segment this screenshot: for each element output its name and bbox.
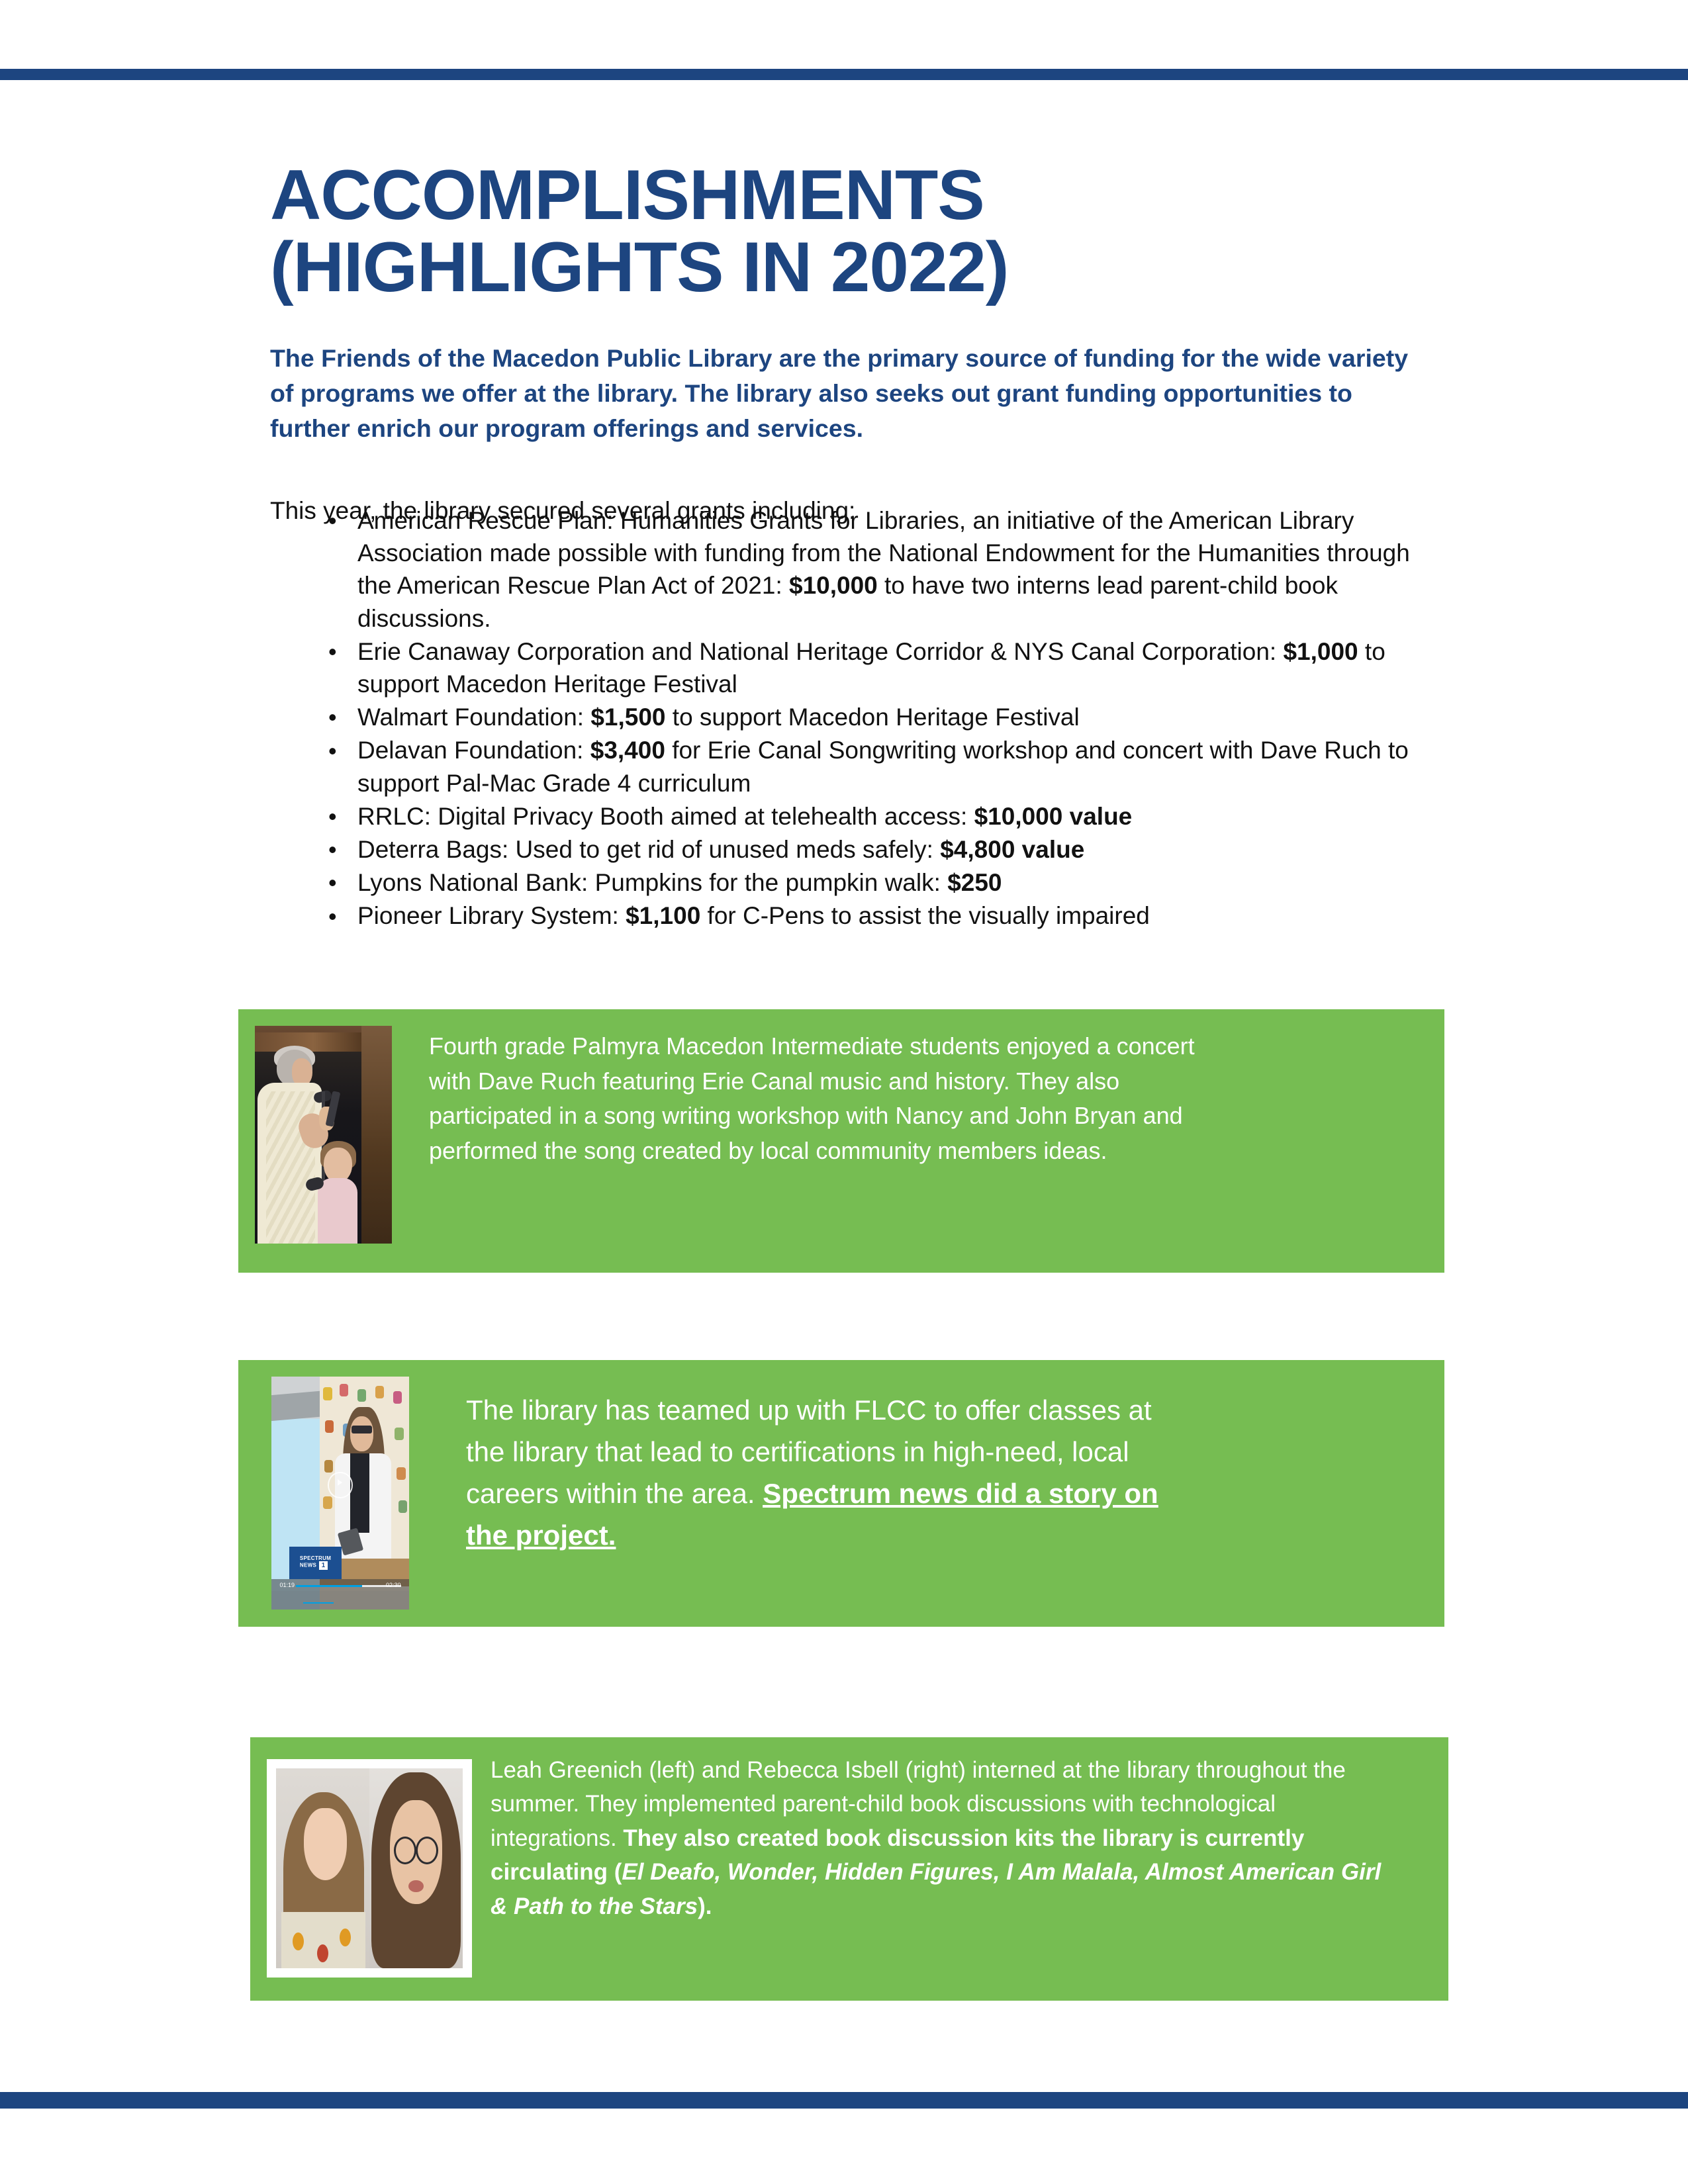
bottom-divider-rule xyxy=(0,2092,1688,2109)
grants-list: •American Rescue Plan: Humanities Grants… xyxy=(311,504,1436,933)
grant-description-suffix: to support Macedon Heritage Festival xyxy=(666,704,1080,731)
grant-list-item: •Erie Canaway Corporation and National H… xyxy=(311,635,1436,700)
grant-list-item: •RRLC: Digital Privacy Booth aimed at te… xyxy=(311,800,1436,833)
spectrum-logo-line-2: NEWS xyxy=(300,1563,316,1569)
grant-description: Delavan Foundation: xyxy=(357,737,590,764)
bullet-icon: • xyxy=(328,801,337,833)
grant-list-item: •American Rescue Plan: Humanities Grants… xyxy=(311,504,1436,635)
spectrum-channel-badge: 1 xyxy=(319,1561,328,1570)
intro-paragraph: The Friends of the Macedon Public Librar… xyxy=(270,341,1422,447)
grant-description: Erie Canaway Corporation and National He… xyxy=(357,638,1283,665)
feature-text-interns-titles: El Deafo, Wonder, Hidden Figures, I Am M… xyxy=(491,1859,1381,1919)
page-title-line-1: ACCOMPLISHMENTS xyxy=(270,159,1435,231)
grant-list-item: •Delavan Foundation: $3,400 for Erie Can… xyxy=(311,734,1436,799)
grant-description-suffix: for C-Pens to assist the visually impair… xyxy=(700,902,1150,929)
grant-list-item: •Walmart Foundation: $1,500 to support M… xyxy=(311,701,1436,733)
spectrum-news-logo: SPECTRUM NEWS1 xyxy=(289,1547,342,1579)
grant-description: Deterra Bags: Used to get rid of unused … xyxy=(357,836,940,863)
feature-text-flcc: The library has teamed up with FLCC to o… xyxy=(466,1389,1181,1556)
feature-text-dave-ruch: Fourth grade Palmyra Macedon Intermediat… xyxy=(429,1029,1197,1168)
photo-frame-interns xyxy=(267,1759,472,1978)
bullet-icon: • xyxy=(328,505,337,537)
grant-amount: $1,500 xyxy=(590,704,665,731)
bullet-icon: • xyxy=(328,834,337,866)
grant-list-item: •Lyons National Bank: Pumpkins for the p… xyxy=(311,866,1436,899)
grant-amount: $10,000 xyxy=(789,572,878,599)
bullet-icon: • xyxy=(328,636,337,668)
bullet-icon: • xyxy=(328,901,337,933)
page-title: ACCOMPLISHMENTS (HIGHLIGHTS IN 2022) xyxy=(270,159,1435,303)
photo-dave-ruch-concert xyxy=(255,1026,392,1244)
grant-amount: $3,400 xyxy=(590,737,665,764)
grant-list-item: •Deterra Bags: Used to get rid of unused… xyxy=(311,833,1436,866)
grant-description: Walmart Foundation: xyxy=(357,704,590,731)
page-title-line-2: (HIGHLIGHTS IN 2022) xyxy=(270,231,1435,303)
top-divider-rule xyxy=(0,69,1688,80)
photo-spectrum-news-video[interactable]: SPECTRUM NEWS1 01:19 02:30 xyxy=(271,1377,409,1610)
spectrum-logo-line-1: SPECTRUM xyxy=(300,1555,331,1561)
video-time-elapsed: 01:19 xyxy=(279,1582,295,1588)
grant-amount: $4,800 value xyxy=(940,836,1084,863)
bullet-icon: • xyxy=(328,735,337,767)
video-progress-bar[interactable] xyxy=(296,1585,362,1587)
grant-list-item: •Pioneer Library System: $1,100 for C-Pe… xyxy=(311,899,1436,932)
newsletter-page: ACCOMPLISHMENTS (HIGHLIGHTS IN 2022) The… xyxy=(0,0,1688,2184)
grant-amount: $250 xyxy=(947,869,1002,896)
feature-block-flcc: SPECTRUM NEWS1 01:19 02:30 The library h… xyxy=(238,1360,1444,1627)
grant-description: Lyons National Bank: Pumpkins for the pu… xyxy=(357,869,947,896)
photo-interns-portraits xyxy=(276,1768,463,1968)
bullet-icon: • xyxy=(328,702,337,733)
grant-amount: $10,000 value xyxy=(974,803,1133,830)
video-play-icon[interactable] xyxy=(328,1472,352,1498)
feature-block-interns: Leah Greenich (left) and Rebecca Isbell … xyxy=(250,1737,1448,2001)
bullet-icon: • xyxy=(328,867,337,899)
feature-block-dave-ruch: Fourth grade Palmyra Macedon Intermediat… xyxy=(238,1009,1444,1273)
grant-amount: $1,100 xyxy=(626,902,700,929)
feature-text-interns-bold-end: ). xyxy=(698,1893,712,1919)
feature-text-interns: Leah Greenich (left) and Rebecca Isbell … xyxy=(491,1753,1397,1923)
video-time-total: 02:30 xyxy=(386,1582,401,1588)
grant-description: Pioneer Library System: xyxy=(357,902,626,929)
grant-description: RRLC: Digital Privacy Booth aimed at tel… xyxy=(357,803,974,830)
video-volume-slider[interactable] xyxy=(303,1602,334,1604)
grant-amount: $1,000 xyxy=(1283,638,1358,665)
